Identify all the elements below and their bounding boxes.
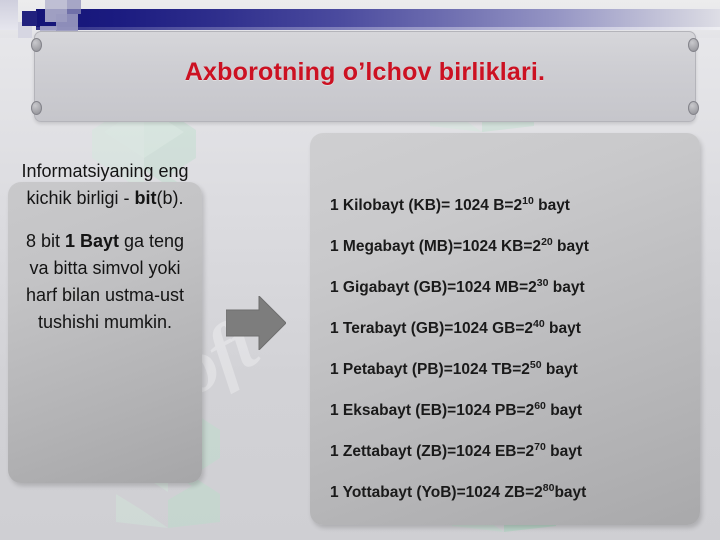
- unit-exponent: 20: [541, 236, 553, 248]
- list-item: 1 Gigabayt (GB)=1024 MB=230 bayt: [330, 278, 688, 298]
- unit-suffix: bayt: [546, 402, 582, 419]
- decor-square: [0, 0, 18, 30]
- unit-suffix: bayt: [546, 443, 582, 460]
- unit-suffix: bayt: [534, 197, 570, 214]
- unit-text: 1 Megabayt (MB)=1024 KB=2: [330, 238, 541, 255]
- unit-text: 1 Zettabayt (ZB)=1024 EB=2: [330, 443, 534, 460]
- units-card: 1 Kilobayt (KB)= 1024 B=210 bayt 1 Megab…: [310, 133, 700, 525]
- unit-text: 1 Terabayt (GB)=1024 GB=2: [330, 320, 533, 337]
- paragraph-gap: [17, 212, 193, 228]
- definition-card: Informatsiyaning eng kichik birligi - bi…: [8, 182, 202, 483]
- pin-icon: [31, 38, 42, 52]
- list-item: 1 Terabayt (GB)=1024 GB=240 bayt: [330, 319, 688, 339]
- decor-square-accent: [22, 11, 37, 26]
- list-item: 1 Megabayt (MB)=1024 KB=220 bayt: [330, 237, 688, 257]
- page-title: Axborotning o’lchov birliklari.: [35, 58, 695, 87]
- list-item: 1 Kilobayt (KB)= 1024 B=210 bayt: [330, 196, 688, 216]
- pin-icon: [688, 38, 699, 52]
- unit-suffix: bayt: [542, 361, 578, 378]
- unit-exponent: 40: [533, 318, 545, 330]
- list-item: 1 Petabayt (PB)=1024 TB=250 bayt: [330, 360, 688, 380]
- right-arrow-icon: [226, 296, 286, 350]
- unit-exponent: 60: [534, 400, 546, 412]
- unit-text: 1 Yottabayt (YoB)=1024 ZB=2: [330, 484, 543, 501]
- slide-canvas: soft soft soft soft Axborotning o’lchov …: [0, 0, 720, 540]
- gradient-bar: [36, 9, 720, 30]
- unit-suffix: bayt: [553, 238, 589, 255]
- units-list: 1 Kilobayt (KB)= 1024 B=210 bayt 1 Megab…: [330, 196, 688, 524]
- unit-exponent: 70: [534, 441, 546, 453]
- pin-icon: [688, 101, 699, 115]
- unit-text: 1 Petabayt (PB)=1024 TB=2: [330, 361, 530, 378]
- unit-exponent: 80: [543, 482, 555, 494]
- list-item: 1 Zettabayt (ZB)=1024 EB=270 bayt: [330, 442, 688, 462]
- unit-suffix: bayt: [554, 484, 586, 501]
- definition-p1-bold: bit: [135, 188, 157, 208]
- pin-icon: [31, 101, 42, 115]
- unit-suffix: bayt: [545, 320, 581, 337]
- unit-text: 1 Gigabayt (GB)=1024 MB=2: [330, 279, 537, 296]
- definition-p1-part2: (b).: [157, 188, 184, 208]
- definition-text: Informatsiyaning eng kichik birligi - bi…: [17, 158, 193, 336]
- title-plaque: Axborotning o’lchov birliklari.: [34, 31, 696, 122]
- unit-text: 1 Eksabayt (EB)=1024 PB=2: [330, 402, 534, 419]
- list-item: 1 Yottabayt (YoB)=1024 ZB=280bayt: [330, 483, 688, 503]
- unit-exponent: 10: [522, 195, 534, 207]
- list-item: 1 Eksabayt (EB)=1024 PB=260 bayt: [330, 401, 688, 421]
- definition-p2-bold: 1 Bayt: [65, 231, 119, 251]
- unit-suffix: bayt: [548, 279, 584, 296]
- unit-text: 1 Kilobayt (KB)= 1024 B=2: [330, 197, 522, 214]
- decor-square: [67, 0, 81, 14]
- unit-exponent: 50: [530, 359, 542, 371]
- unit-exponent: 30: [537, 277, 549, 289]
- definition-p2-part1: 8 bit: [26, 231, 65, 251]
